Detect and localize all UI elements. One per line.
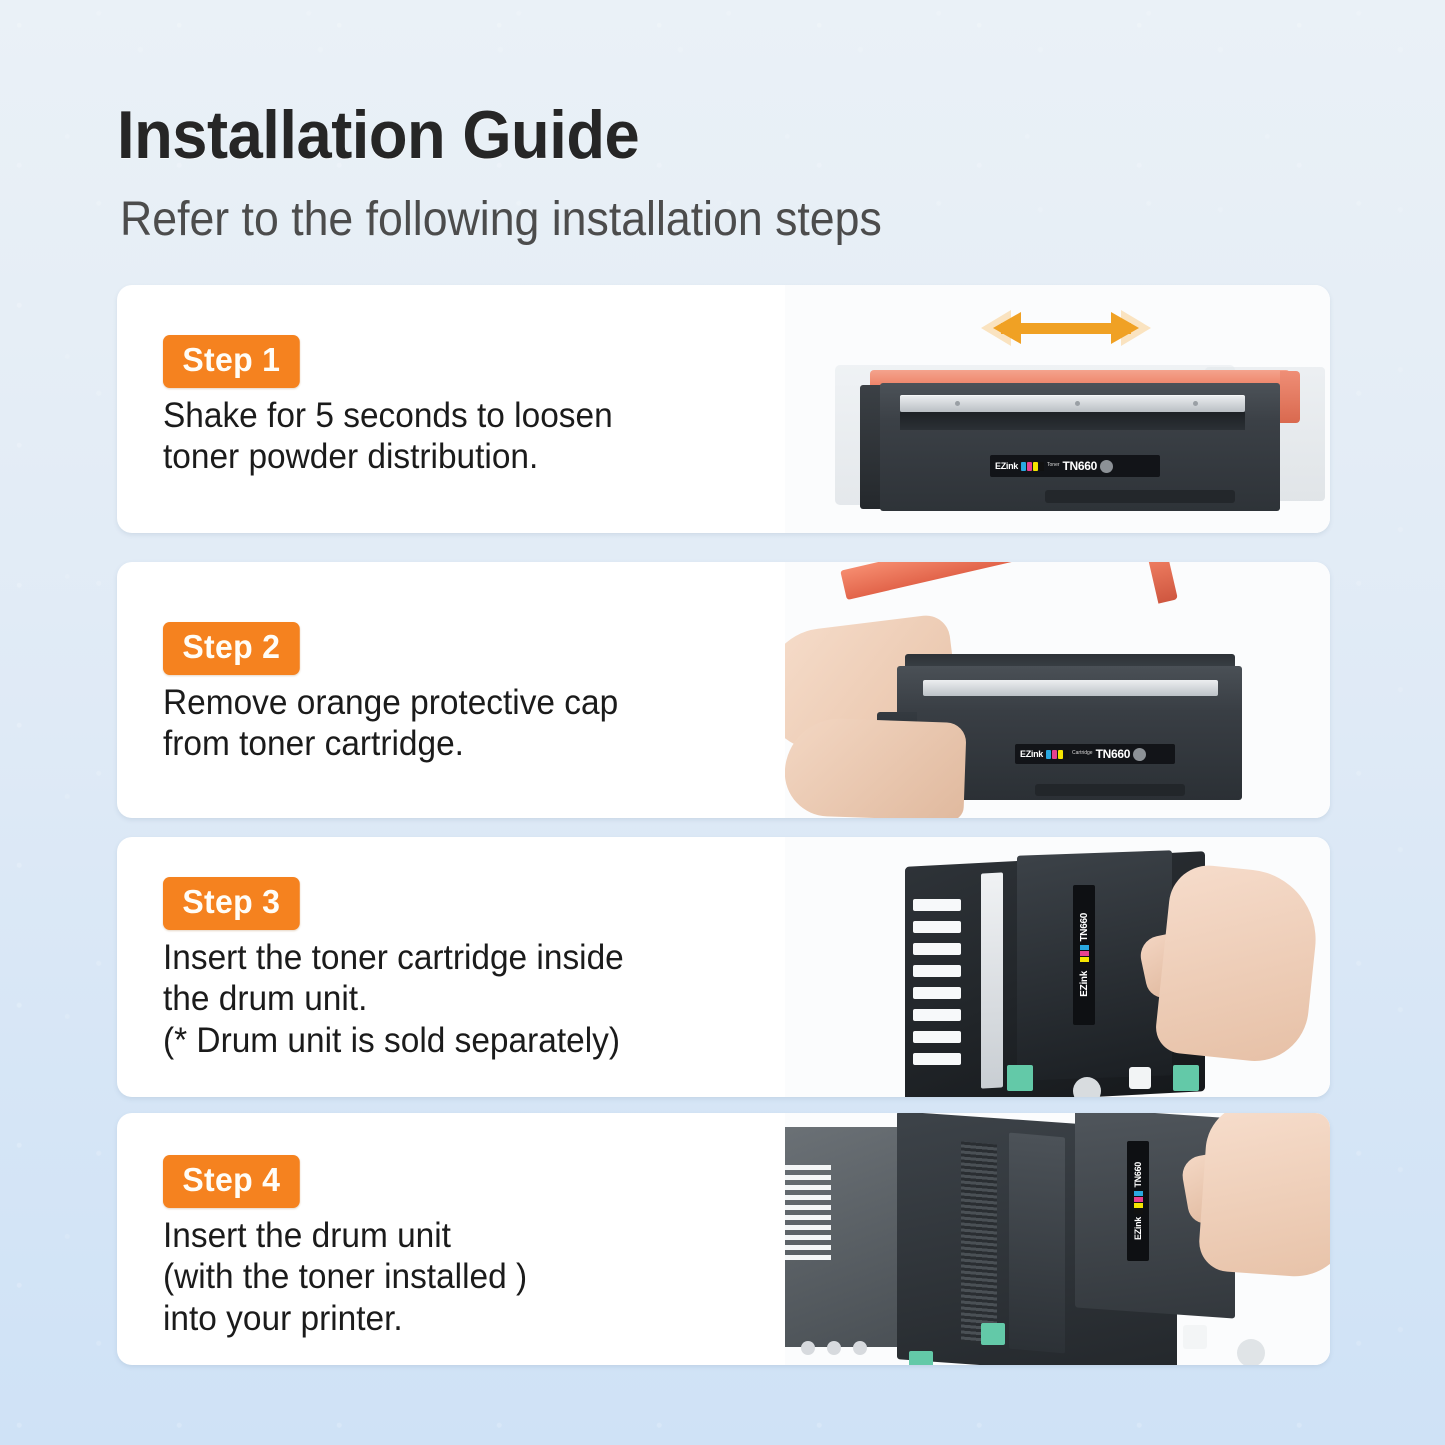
cartridge-handle (1045, 490, 1235, 503)
step-3-badge-wrap: Step 3 (163, 877, 304, 930)
step-1-description: Shake for 5 seconds to loosen toner powd… (163, 395, 613, 478)
label-model: TN660 (1133, 1162, 1143, 1188)
seal-icon (1133, 748, 1146, 761)
cartridge-dark-strip (900, 412, 1245, 430)
hand (1153, 862, 1322, 1067)
brand-name: EZink (1133, 1217, 1143, 1240)
step-3-description: Insert the toner cartridge inside the dr… (163, 937, 624, 1061)
step-4-text-panel: Step 4 Insert the drum unit (with the to… (117, 1113, 785, 1365)
cartridge-handle (1035, 784, 1185, 796)
label-model: TN660 (1079, 913, 1090, 942)
green-lever-left (1007, 1065, 1033, 1091)
step-card-4: Step 4 Insert the drum unit (with the to… (117, 1113, 1330, 1365)
brand-name: EZink (1020, 749, 1043, 759)
orange-protective-cap (840, 562, 1160, 600)
step-2-badge-wrap: Step 2 (163, 622, 304, 675)
seal-icon (1100, 460, 1113, 473)
drum-gear (1237, 1339, 1265, 1365)
cartridge-label: EZink Toner TN660 (990, 455, 1160, 477)
printer-guide-rail (1009, 1133, 1065, 1354)
orange-cap-tip (1148, 562, 1178, 604)
brand-name: EZink (1079, 971, 1090, 997)
drum-gear (1073, 1077, 1101, 1097)
hand-lower (785, 717, 967, 818)
printer-indicator-lights (801, 1341, 867, 1355)
printer-slot-ribs (961, 1141, 997, 1344)
step-4-badge-wrap: Step 4 (163, 1155, 304, 1208)
white-clip (1129, 1067, 1151, 1089)
white-clip (1183, 1325, 1207, 1349)
label-model: TN660 (1063, 459, 1098, 473)
step-card-2: Step 2 Remove orange protective cap from… (117, 562, 1330, 818)
page-title: Installation Guide (117, 96, 639, 174)
step-2-text-panel: Step 2 Remove orange protective cap from… (117, 562, 785, 818)
step-2-description: Remove orange protective cap from toner … (163, 682, 618, 765)
cmyk-dots-icon (1080, 945, 1089, 968)
page-subtitle: Refer to the following installation step… (120, 192, 882, 247)
cmyk-dots-icon (1134, 1191, 1143, 1214)
cartridge-label: TN660 EZink (1127, 1141, 1149, 1261)
cartridge-roller (923, 680, 1218, 696)
step-1-text-panel: Step 1 Shake for 5 seconds to loosen ton… (117, 285, 785, 533)
step-1-badge-wrap: Step 1 (163, 335, 304, 388)
cmyk-dots-icon (1046, 750, 1069, 759)
step-card-1: Step 1 Shake for 5 seconds to loosen ton… (117, 285, 1330, 533)
hand (1197, 1113, 1330, 1280)
green-lever-right (1173, 1065, 1199, 1091)
cmyk-dots-icon (1021, 462, 1044, 471)
step-2-photo: EZink Cartridge TN660 (785, 562, 1330, 818)
step-1-photo: EZink Toner TN660 (785, 285, 1330, 533)
label-category-line1: Toner (1047, 463, 1060, 468)
step-1-badge: Step 1 (163, 335, 300, 388)
step-2-badge: Step 2 (163, 622, 300, 675)
green-lever-left (981, 1323, 1005, 1345)
drum-unit-vents (913, 899, 961, 1089)
step-4-badge: Step 4 (163, 1155, 300, 1208)
printer-vents (785, 1165, 831, 1275)
installation-guide-page: Installation Guide Refer to the followin… (0, 0, 1445, 1445)
step-3-photo: TN660 EZink (785, 837, 1330, 1097)
step-4-description: Insert the drum unit (with the toner ins… (163, 1215, 527, 1339)
label-category-line2: Cartridge (1072, 751, 1093, 756)
shake-double-arrow-icon (981, 307, 1151, 349)
step-card-3: Step 3 Insert the toner cartridge inside… (117, 837, 1330, 1097)
cartridge-label: EZink Cartridge TN660 (1015, 744, 1175, 764)
step-3-badge: Step 3 (163, 877, 300, 930)
step-3-text-panel: Step 3 Insert the toner cartridge inside… (117, 837, 785, 1097)
label-model: TN660 (1096, 747, 1131, 761)
drum-metal-bar (981, 872, 1003, 1088)
cartridge-label: TN660 EZink (1073, 885, 1095, 1025)
orange-cap-end (1280, 371, 1300, 423)
green-lever-front (909, 1351, 933, 1365)
step-4-photo: TN660 EZink (785, 1113, 1330, 1365)
brand-name: EZink (995, 461, 1018, 471)
